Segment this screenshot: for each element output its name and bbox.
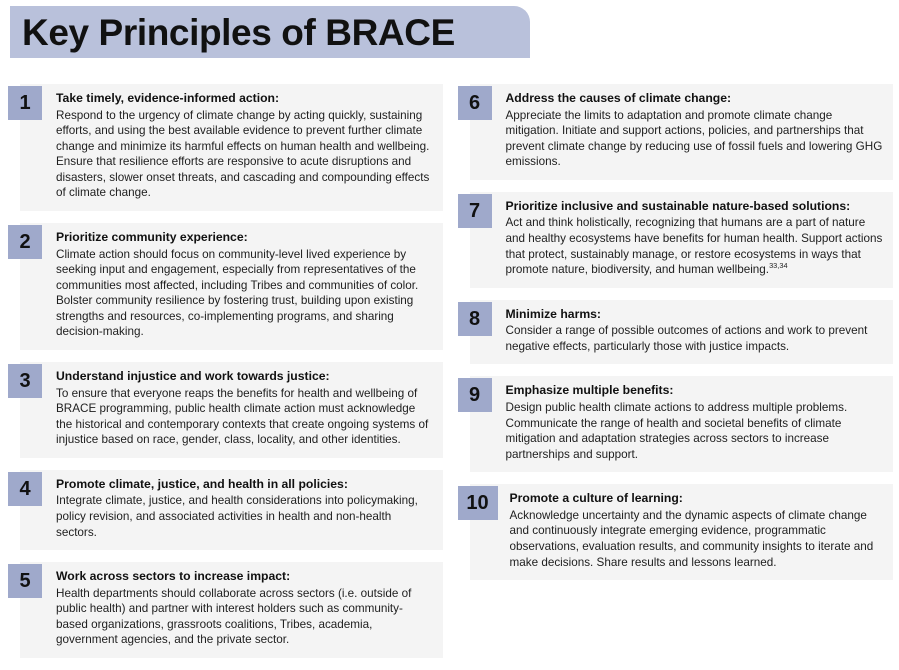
principle-title: Address the causes of climate change:: [506, 91, 883, 107]
principle-body: Climate action should focus on community…: [56, 247, 433, 340]
principle-number-badge: 5: [8, 564, 42, 598]
principle-body-text: Climate action should focus on community…: [56, 248, 418, 339]
principle-number-badge: 9: [458, 378, 492, 412]
principles-column-left: 1 Take timely, evidence-informed action:…: [0, 84, 450, 670]
principle-body: Act and think holistically, recognizing …: [506, 215, 883, 277]
principle-card: 5 Work across sectors to increase impact…: [20, 562, 443, 658]
principle-title: Promote a culture of learning:: [510, 491, 883, 507]
principle-number-badge: 10: [458, 486, 498, 520]
principle-number-badge: 1: [8, 86, 42, 120]
principle-title: Take timely, evidence-informed action:: [56, 91, 433, 107]
principle-body-text: Act and think holistically, recognizing …: [506, 216, 883, 276]
principles-column-right: 6 Address the causes of climate change: …: [450, 84, 899, 670]
principle-number-badge: 6: [458, 86, 492, 120]
principle-body-text: To ensure that everyone reaps the benefi…: [56, 387, 428, 447]
principle-title: Prioritize community experience:: [56, 230, 433, 246]
principle-body: Integrate climate, justice, and health c…: [56, 493, 433, 540]
principle-title: Promote climate, justice, and health in …: [56, 477, 433, 493]
principle-body-text: Design public health climate actions to …: [506, 401, 848, 461]
principle-body: Acknowledge uncertainty and the dynamic …: [510, 508, 883, 570]
principle-number-badge: 2: [8, 225, 42, 259]
principle-body: Respond to the urgency of climate change…: [56, 108, 433, 201]
principle-body-text: Acknowledge uncertainty and the dynamic …: [510, 509, 874, 569]
principle-card: 10 Promote a culture of learning: Acknow…: [470, 484, 893, 580]
page-title-banner: Key Principles of BRACE: [10, 6, 530, 58]
principle-title: Emphasize multiple benefits:: [506, 383, 883, 399]
principle-body: Appreciate the limits to adaptation and …: [506, 108, 883, 170]
principle-body-text: Health departments should collaborate ac…: [56, 587, 411, 647]
principle-card: 4 Promote climate, justice, and health i…: [20, 470, 443, 550]
principle-title: Understand injustice and work towards ju…: [56, 369, 433, 385]
principle-title: Work across sectors to increase impact:: [56, 569, 433, 585]
page-title: Key Principles of BRACE: [22, 14, 455, 51]
principle-citation: 33,34: [769, 261, 788, 270]
principle-body: Design public health climate actions to …: [506, 400, 883, 462]
principle-body: To ensure that everyone reaps the benefi…: [56, 386, 433, 448]
principle-number-badge: 8: [458, 302, 492, 336]
principle-card: 3 Understand injustice and work towards …: [20, 362, 443, 458]
principle-body: Health departments should collaborate ac…: [56, 586, 433, 648]
principle-number-badge: 4: [8, 472, 42, 506]
principle-card: 9 Emphasize multiple benefits: Design pu…: [470, 376, 893, 472]
principle-card: 8 Minimize harms: Consider a range of po…: [470, 300, 893, 365]
principle-body-text: Consider a range of possible outcomes of…: [506, 324, 868, 353]
principle-card: 7 Prioritize inclusive and sustainable n…: [470, 192, 893, 288]
principle-body: Consider a range of possible outcomes of…: [506, 323, 883, 354]
principle-body-text: Integrate climate, justice, and health c…: [56, 494, 418, 538]
principle-card: 6 Address the causes of climate change: …: [470, 84, 893, 180]
principles-grid: 1 Take timely, evidence-informed action:…: [0, 84, 899, 670]
principle-body-text: Appreciate the limits to adaptation and …: [506, 109, 883, 169]
principle-body-text: Respond to the urgency of climate change…: [56, 109, 429, 200]
principle-card: 2 Prioritize community experience: Clima…: [20, 223, 443, 350]
principle-title: Prioritize inclusive and sustainable nat…: [506, 199, 883, 215]
principle-card: 1 Take timely, evidence-informed action:…: [20, 84, 443, 211]
principle-title: Minimize harms:: [506, 307, 883, 323]
principle-number-badge: 3: [8, 364, 42, 398]
principle-number-badge: 7: [458, 194, 492, 228]
